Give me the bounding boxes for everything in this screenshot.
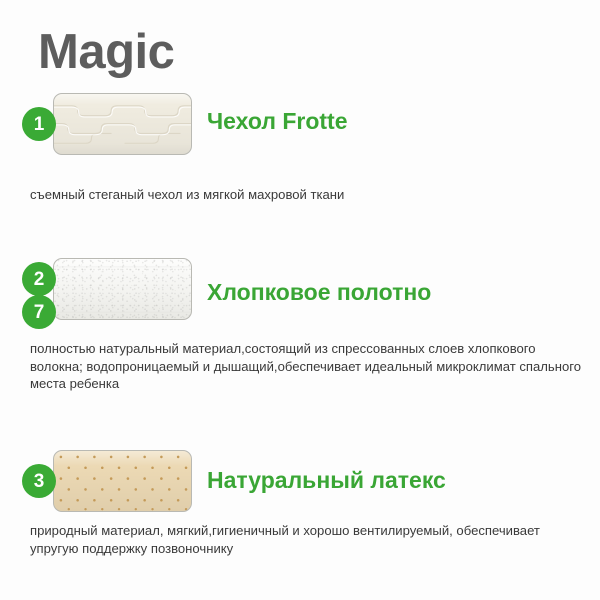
layer-description-frotte: съемный стеганый чехол из мягкой махрово… — [30, 186, 590, 204]
layer-badge-3: 3 — [22, 464, 56, 498]
layer-section-frotte: 1 Чехол Frotte — [0, 93, 600, 155]
layer-row: 2 7 Хлопковое полотно — [0, 258, 600, 320]
material-swatch-cotton — [53, 258, 192, 320]
quilt-stitch-pattern-icon — [54, 94, 191, 155]
brand-title: Magic — [38, 28, 174, 77]
layer-section-latex: 3 Натуральный латекс — [0, 450, 600, 512]
layer-description-latex: природный материал, мягкий,гигиеничный и… — [30, 522, 590, 557]
layer-heading-frotte: Чехол Frotte — [207, 110, 348, 133]
material-swatch-frotte — [53, 93, 192, 155]
latex-perforation-pattern-icon — [54, 451, 191, 512]
layer-badge-2: 2 — [22, 262, 56, 296]
layer-description-cotton: полностью натуральный материал,состоящий… — [30, 340, 590, 393]
layer-heading-cotton: Хлопковое полотно — [207, 281, 431, 304]
material-swatch-latex — [53, 450, 192, 512]
layer-row: 1 Чехол Frotte — [0, 93, 600, 155]
layer-section-cotton: 2 7 Хлопковое полотно — [0, 258, 600, 320]
layer-row: 3 Натуральный латекс — [0, 450, 600, 512]
cotton-fiber-texture-icon — [54, 259, 191, 320]
mattress-layers-infographic: Magic 1 Чехол Frott — [0, 0, 600, 600]
layer-badge-7: 7 — [22, 295, 56, 329]
layer-badge-1: 1 — [22, 107, 56, 141]
layer-heading-latex: Натуральный латекс — [207, 469, 446, 492]
